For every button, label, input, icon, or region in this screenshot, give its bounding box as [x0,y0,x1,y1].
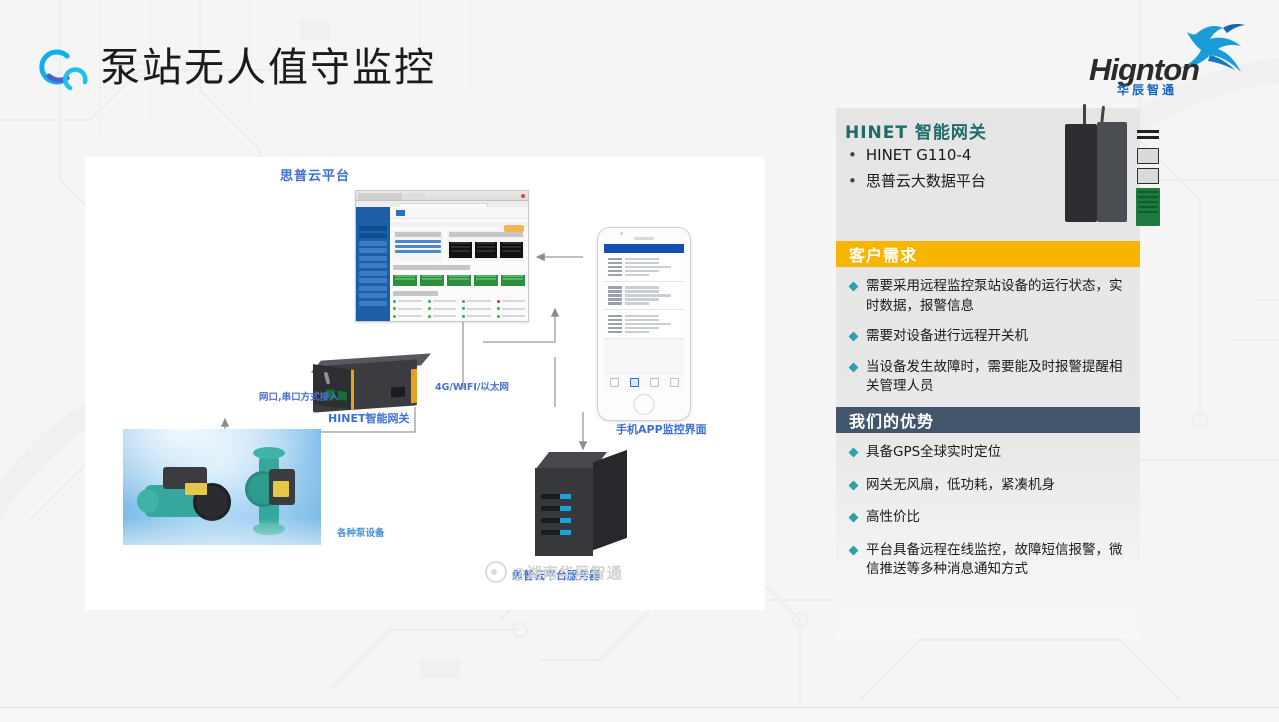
meter-cell [449,240,472,259]
sidebar-item [359,226,387,231]
advantage-text: 网关无风扇，低功耗，紧凑机身 [866,476,1055,496]
param-panel [393,230,443,261]
meter-cell [500,240,523,259]
gateway-side-port-icon [391,387,405,398]
gateway-ethernet-port-icon [1137,148,1159,164]
cloud-platform-screenshot [355,190,529,322]
alarm-column [462,299,491,323]
alarm-row [497,299,526,304]
requirement-item: 需要采用远程监控泵站设备的运行状态，实时数据，报警信息 [850,277,1126,316]
advantage-text: 平台具备远程在线监控，故障短信报警，微信推送等多种消息通知方式 [866,541,1126,580]
sidebar-item [359,263,387,268]
diamond-bullet-icon [849,480,859,490]
param-row [395,240,441,243]
platform-topbar [390,207,528,219]
status-cell [447,273,471,287]
panel-heading [395,232,441,237]
gateway-photo-right-face [1097,122,1127,222]
sidebar-item [359,256,387,261]
browser-tab [358,193,402,200]
gateway-accent-strip [411,369,417,403]
diamond-bullet-icon [849,332,859,342]
architecture-diagram: 思普云平台 [85,157,765,610]
server-side-face [593,450,627,550]
browser-tab-inactive [404,193,426,199]
gateway-front-panel [313,364,354,410]
watermark-text: @湖南华辰智通 [511,562,623,583]
sidebar-item [359,286,387,291]
gateway-antenna-icon [324,372,331,384]
gateway-device-photo [1061,104,1135,226]
label-wireless-link: 4G/WIFI/以太网 [435,379,509,393]
requirement-text: 需要对设备进行远程开关机 [866,327,1028,347]
gateway-spec-block: HINET 智能网关 HINET G110-4 思普云大数据平台 [845,118,1135,224]
footer-strip [0,708,1279,722]
label-cloud-platform: 思普云平台 [280,165,350,184]
server-drive-slot [541,530,571,535]
alarm-column [393,299,422,323]
diamond-bullet-icon [849,282,859,292]
panel-heading [449,232,523,237]
status-cell [474,273,498,287]
app-list-item [604,310,684,339]
panel-title: 客户需求 [836,241,1140,267]
server-drive-slot [541,518,571,523]
advantage-item: 具备GPS全球实时定位 [850,443,1126,463]
label-pumps: 各种泵设备 [337,525,385,539]
alarm-row [462,299,491,304]
alarm-columns [393,299,525,323]
app-tab [644,374,664,390]
panel-group-alarms [393,291,525,323]
pump-unit-left [137,463,241,525]
advantage-item: 高性价比 [850,508,1126,528]
browser-chrome [356,191,528,201]
weibo-eye-icon [485,561,507,583]
advantage-text: 高性价比 [866,508,920,528]
server-front-face [535,468,593,556]
sidebar-item [359,301,387,306]
alarm-row [428,306,457,311]
phone-screen [604,244,684,390]
alarm-row [393,314,422,319]
alarm-row [462,306,491,311]
gateway-photo-left-face [1065,124,1097,222]
label-gateway: HINET智能网关 [328,410,410,426]
param-row [395,245,441,248]
gateway-terminal-block [1136,188,1160,226]
phone-earpiece-icon [634,237,654,240]
server-illustration [535,452,631,560]
sidebar-item [359,278,387,283]
app-list-item [604,282,684,311]
gateway-led-strip [1137,136,1159,139]
platform-sidebar [356,207,390,321]
requirement-text: 当设备发生故障时，需要能及时报警提醒相关管理人员 [866,358,1126,397]
brand-logo: Hignton 华辰智通 [1089,26,1241,102]
brand-subtitle: 华辰智通 [1117,81,1177,98]
app-list-item [604,253,684,282]
panel-group-top [393,230,525,261]
gateway-led-strip [1137,130,1159,133]
browser-close-icon [521,194,525,198]
gateway-antenna-icon [1083,104,1086,126]
phone-camera-icon [620,232,623,235]
alarm-row [393,306,422,311]
diamond-bullet-icon [849,513,859,523]
alarm-row [462,321,491,322]
advantage-text: 具备GPS全球实时定位 [866,443,1001,463]
panel-customer-requirements: 客户需求 需要采用远程监控泵站设备的运行状态，实时数据，报警信息 需要对设备进行… [836,241,1140,405]
panel-title: 我们的优势 [836,407,1140,433]
green-readout [393,275,417,286]
panel-heading [393,291,438,296]
green-readout [447,275,471,286]
meter-panel [447,230,525,261]
app-tab-bar [604,373,684,390]
gateway-spec-title: HINET 智能网关 [845,118,987,143]
browser-viewport [356,207,528,321]
platform-content [390,207,528,321]
photo-floor-gradient [123,517,321,545]
app-tab [604,374,624,390]
panel-heading [393,265,470,270]
gateway-spec-item: HINET G110-4 [848,146,971,164]
digital-readout [475,242,498,258]
digital-readout [500,242,523,258]
app-tab [664,374,684,390]
requirement-item: 当设备发生故障时，需要能及时报警提醒相关管理人员 [850,358,1126,397]
panel-our-advantages: 我们的优势 具备GPS全球实时定位 网关无风扇，低功耗，紧凑机身 高性价比 平台… [836,407,1140,601]
alarm-column [497,299,526,323]
status-cell [420,273,444,287]
alarm-row [497,314,526,319]
app-tab-active [624,374,644,390]
status-cell [501,273,525,287]
green-readout [420,275,444,286]
alarm-row [393,299,422,304]
pump-equipment-photo [123,429,321,545]
requirement-item: 需要对设备进行远程开关机 [850,327,1126,347]
alarm-column [428,299,457,323]
alarm-row [393,321,422,322]
meter-cell [475,240,498,259]
panel-group-mid [393,265,525,287]
sidebar-item [359,293,387,298]
alarm-row [428,321,457,322]
alarm-row [497,306,526,311]
sidebar-item [359,248,387,253]
panel-body: 具备GPS全球实时定位 网关无风扇，低功耗，紧凑机身 高性价比 平台具备远程在线… [836,433,1140,601]
app-title-bar [604,244,684,253]
weibo-watermark: @湖南华辰智通 [485,559,735,585]
alarm-row [497,321,526,322]
sidebar-item [359,241,387,246]
sidebar-item [359,233,387,238]
status-cell [393,273,417,287]
label-wired-link: 网口,串口方式接入 [259,389,339,403]
label-mobile-app: 手机APP监控界面 [616,421,707,437]
diamond-bullet-icon [849,448,859,458]
diamond-bullet-icon [849,362,859,372]
page-title: 泵站无人值守监控 [100,42,436,94]
platform-action-button [504,225,524,232]
alarm-row [462,314,491,319]
sidebar-item [359,271,387,276]
alarm-row [428,299,457,304]
phone-home-button-icon [634,394,655,415]
advantage-item: 网关无风扇，低功耗，紧凑机身 [850,476,1126,496]
requirement-text: 需要采用远程监控泵站设备的运行状态，实时数据，报警信息 [866,277,1126,316]
mobile-app-mockup [597,227,691,421]
gateway-device-illustration [307,357,435,415]
param-row [395,250,441,253]
alarm-row [428,314,457,319]
gateway-spec-item: 思普云大数据平台 [848,170,986,191]
digital-readout [449,242,472,258]
green-readout [474,275,498,286]
panel-body: 需要采用远程监控泵站设备的运行状态，实时数据，报警信息 需要对设备进行远程开关机… [836,267,1140,405]
server-drive-slot [541,494,571,499]
diamond-bullet-icon [849,545,859,555]
advantage-item: 平台具备远程在线监控，故障短信报警，微信推送等多种消息通知方式 [850,541,1126,580]
two-circles-logo-icon [34,42,90,94]
green-readout [501,275,525,286]
gateway-ethernet-port-icon [1137,168,1159,184]
server-drive-slot [541,506,571,511]
